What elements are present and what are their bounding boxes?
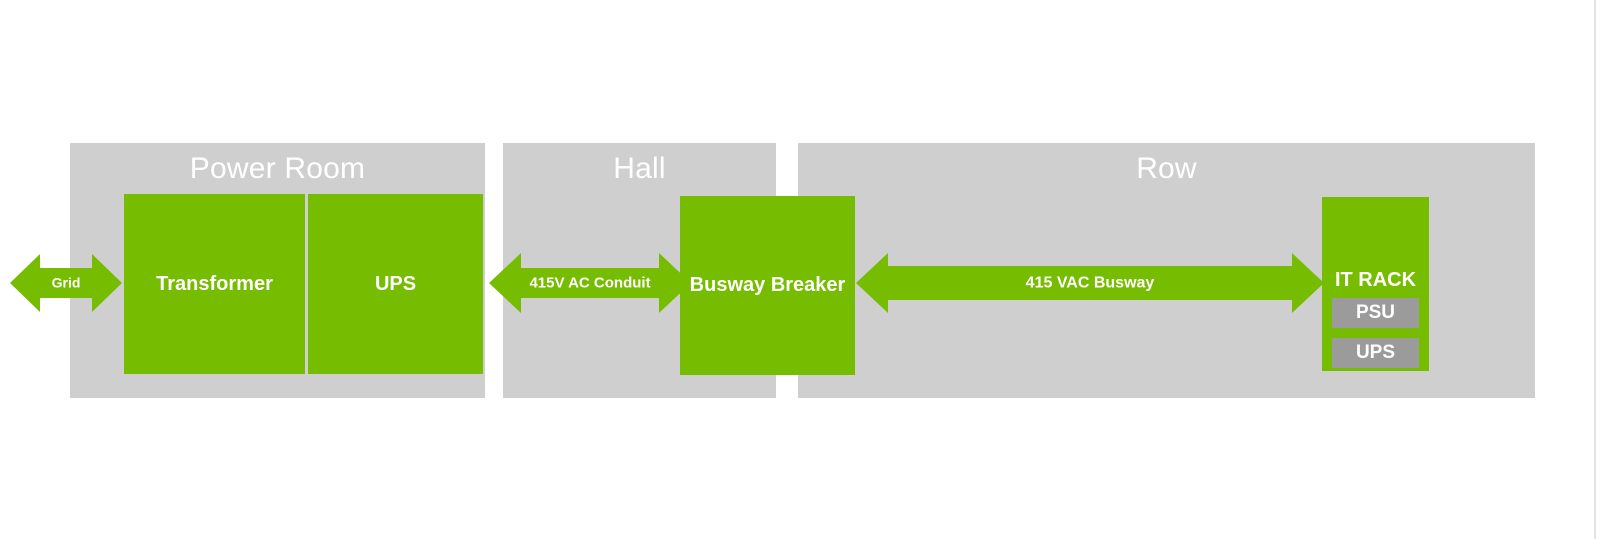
arrow-grid: Grid	[10, 252, 122, 314]
page-edge-rule	[1594, 0, 1596, 539]
zone-power-room-title: Power Room	[70, 152, 485, 186]
block-busway-breaker-label: Busway Breaker	[690, 274, 846, 297]
rack-subunit-psu[interactable]: PSU	[1332, 298, 1419, 328]
block-ups-label: UPS	[375, 273, 416, 296]
rack-subunit-psu-label: PSU	[1356, 302, 1395, 324]
arrow-busway: 415 VAC Busway	[856, 252, 1324, 314]
double-arrow-icon	[489, 252, 691, 314]
rack-subunit-ups[interactable]: UPS	[1332, 338, 1419, 368]
block-transformer-label: Transformer	[156, 273, 273, 296]
diagram-canvas: Power Room Hall Row Grid 415V AC Conduit…	[0, 0, 1600, 539]
block-busway-breaker[interactable]: Busway Breaker	[680, 196, 855, 375]
zone-hall-title: Hall	[503, 152, 776, 186]
block-it-rack[interactable]: IT RACK PSU UPS	[1322, 197, 1429, 371]
block-ups[interactable]: UPS	[308, 194, 483, 374]
block-it-rack-label: IT RACK	[1322, 269, 1429, 291]
block-transformer[interactable]: Transformer	[124, 194, 305, 374]
double-arrow-icon	[856, 252, 1324, 314]
double-arrow-icon	[10, 252, 122, 314]
zone-row-title: Row	[798, 152, 1535, 186]
rack-subunit-ups-label: UPS	[1356, 342, 1395, 364]
arrow-conduit: 415V AC Conduit	[489, 252, 691, 314]
